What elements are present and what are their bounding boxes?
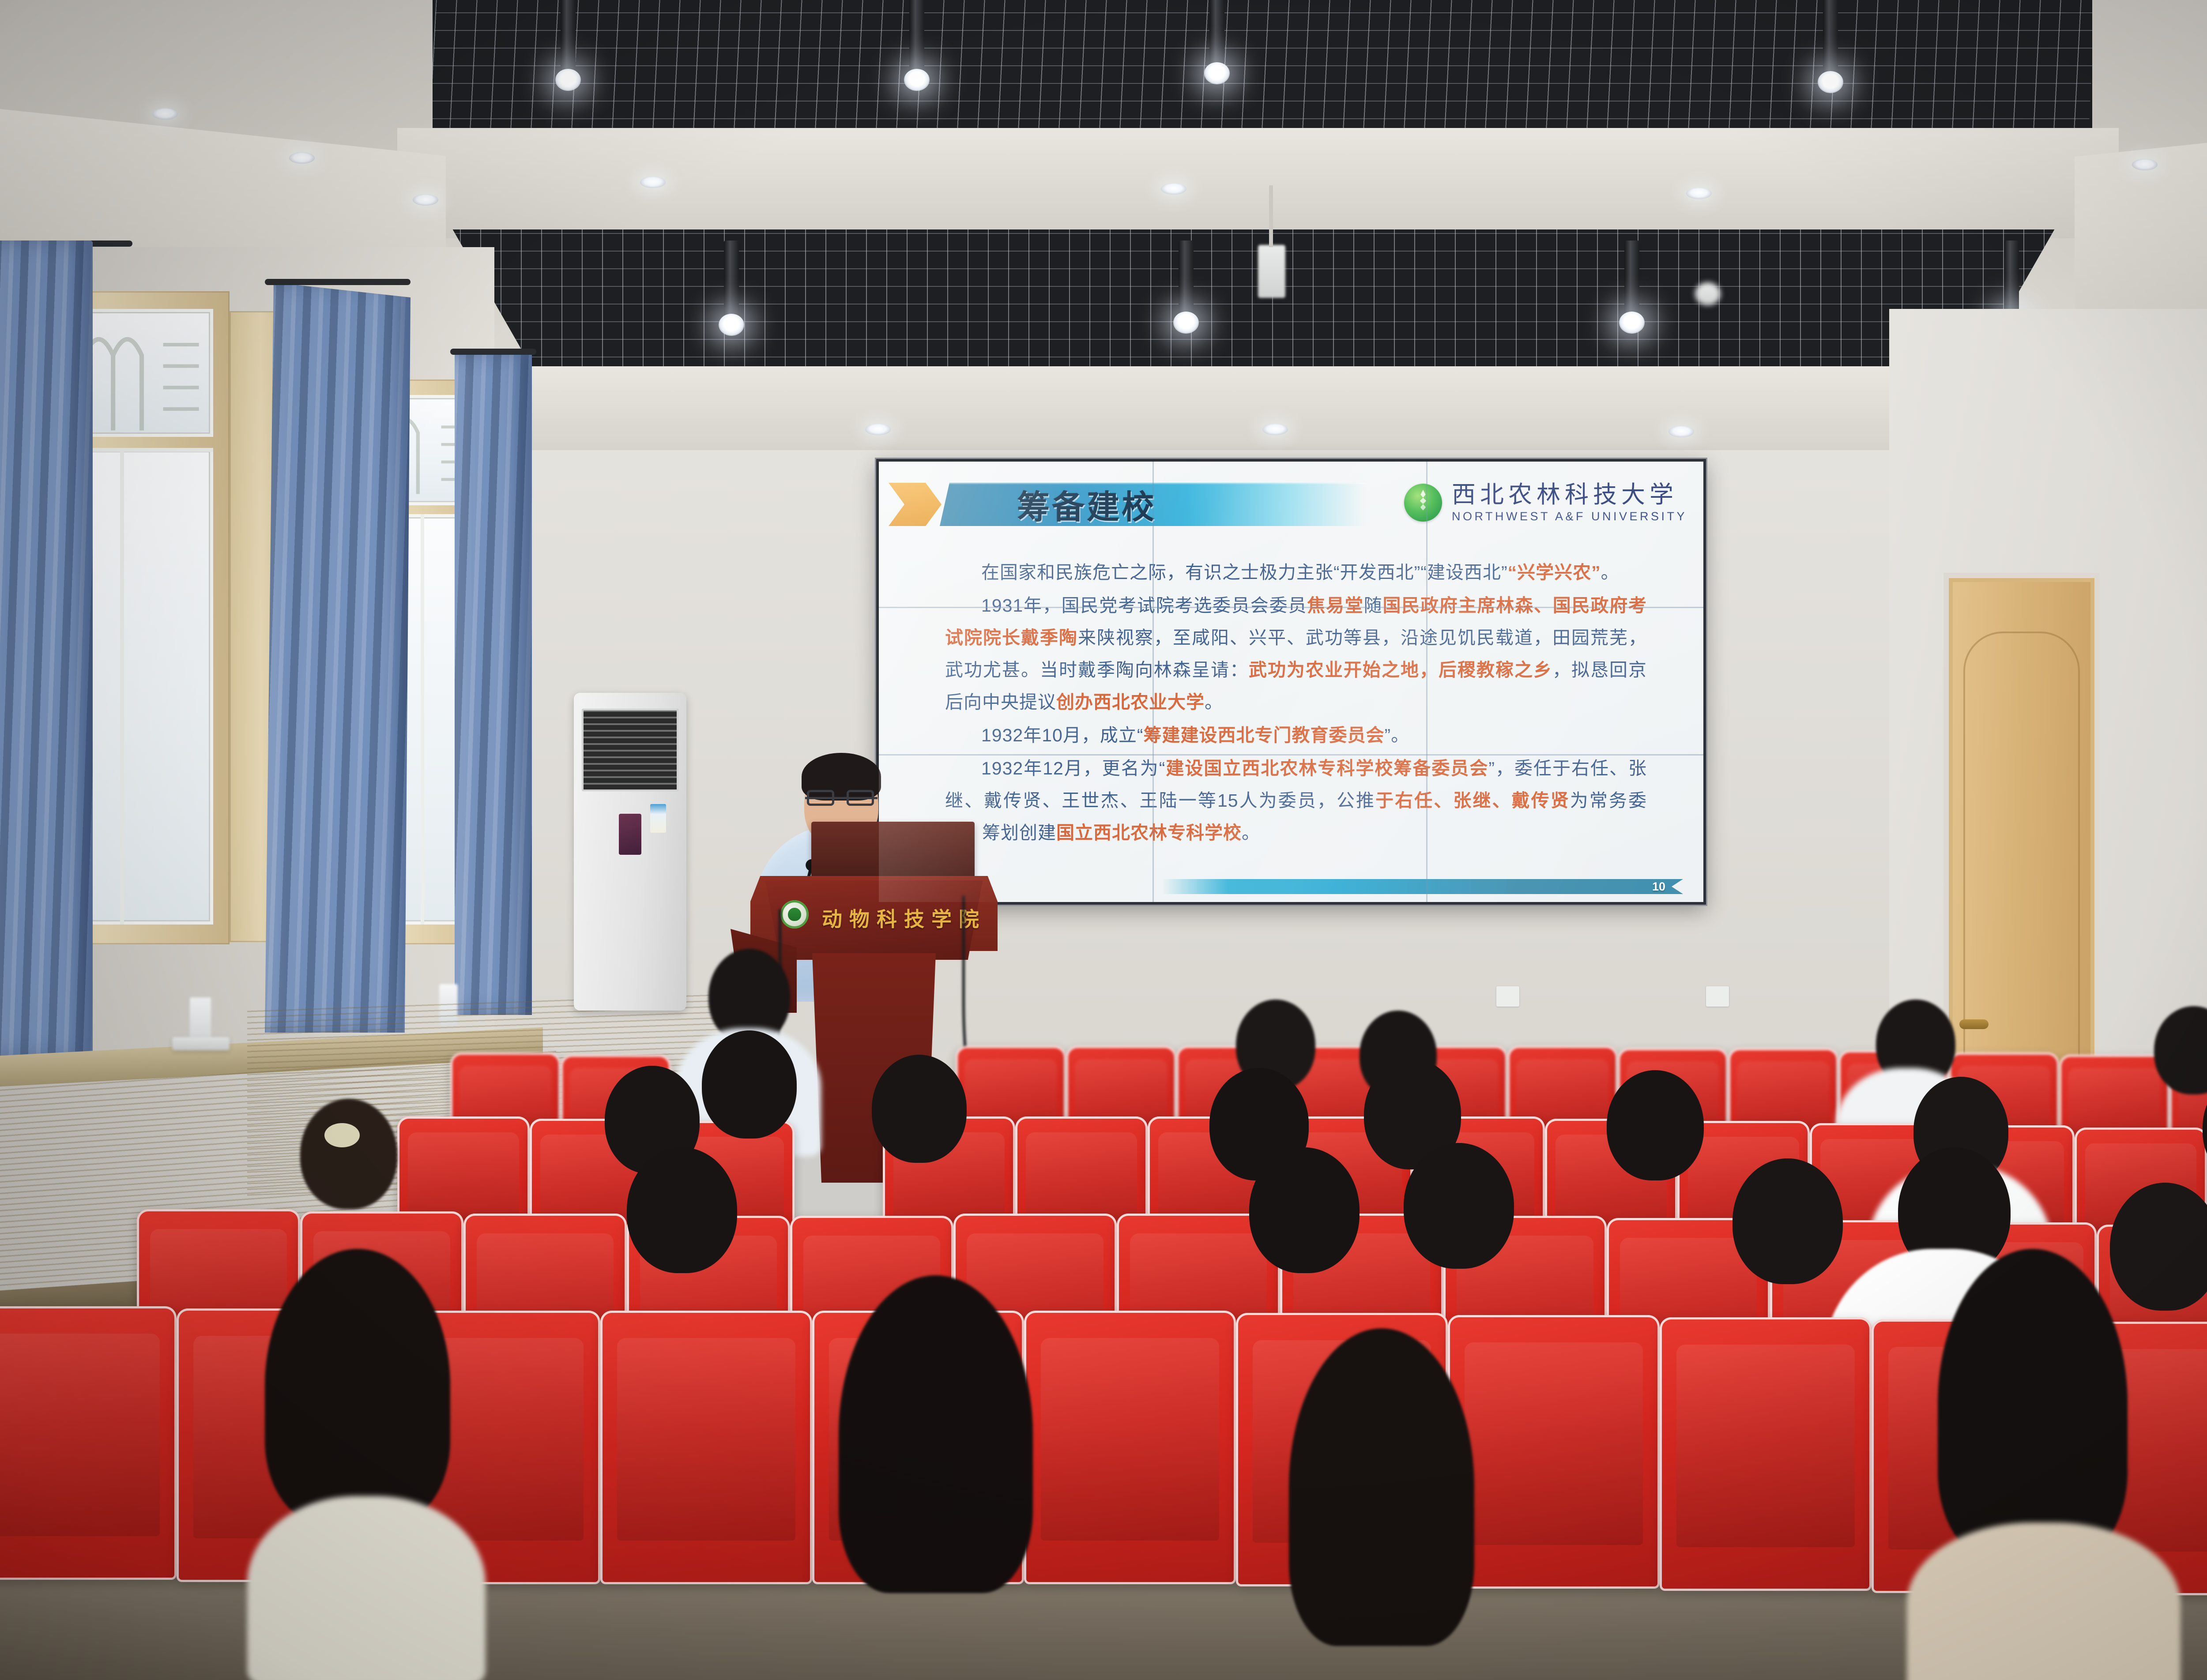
pendant-light (561, 0, 576, 79)
recessed-spotlight (289, 152, 315, 164)
ceiling-grille-upper (433, 0, 2092, 137)
slide-highlight-run: 筹建建设西北专门教育委员会 (1143, 725, 1384, 745)
led-video-wall[interactable]: 筹备建校 西北农林科技大学 NORTHWEST A&F UNIVERSITY 在… (876, 459, 1706, 905)
recessed-spotlight (865, 424, 891, 435)
slide-title: 筹备建校 (1017, 481, 1156, 528)
slide-text-run: 1932年12月，更名为“ (981, 758, 1165, 778)
hair-tie (324, 1123, 360, 1147)
pendant-light (909, 0, 924, 79)
slide-text-run: 1932年10月，成立“ (981, 725, 1143, 745)
recessed-spotlight (152, 108, 178, 120)
curtain-rod (265, 279, 411, 285)
slide-paragraph: 在国家和民族危亡之际，有识之士极力主张“开发西北”“建设西北”“兴学兴农”。 (945, 556, 1647, 589)
ceiling-speaker (1695, 282, 1721, 305)
pendant-light (724, 241, 739, 324)
recessed-spotlight (1262, 424, 1288, 435)
recessed-spotlight (1668, 426, 1694, 437)
air-vent-grille (582, 709, 678, 791)
slide-paragraph: 1931年，国民党考试院考选委员会委员焦易堂随国民政府主席林森、国民政府考试院院… (945, 590, 1647, 718)
air-conditioner-unit[interactable] (574, 693, 686, 1011)
audience-head (1249, 1147, 1360, 1273)
door-handle[interactable] (1959, 1019, 1989, 1029)
slide-text-run: 。 (1601, 562, 1619, 583)
chevron-icon (889, 483, 942, 526)
auditorium-seat[interactable] (1660, 1317, 1872, 1591)
wall-socket-plate[interactable] (1706, 986, 1729, 1007)
slide-highlight-run: 武功为农业开始之地，后稷教稼之乡 (1249, 660, 1552, 680)
recessed-spotlight (640, 177, 666, 188)
curtain-panel[interactable] (455, 353, 532, 1015)
slide-paragraph: 1932年10月，成立“筹建建设西北专门教育委员会”。 (945, 719, 1647, 752)
audience-head-foreground (265, 1249, 450, 1522)
recessed-spotlight (2132, 159, 2158, 170)
presentation-slide: 筹备建校 西北农林科技大学 NORTHWEST A&F UNIVERSITY 在… (879, 462, 1703, 902)
ceiling-grille-lower (419, 229, 2088, 375)
audience-head-foreground (1938, 1249, 2128, 1558)
audience-head (872, 1055, 967, 1163)
slide-highlight-run: 国立西北农林专科学校 (1056, 823, 1242, 843)
auditorium-seat[interactable] (1024, 1311, 1236, 1584)
slide-highlight-run: 焦易堂 (1307, 595, 1363, 616)
pendant-light (1179, 241, 1194, 322)
audience-head (1404, 1143, 1514, 1269)
wheat-emblem-icon (1404, 484, 1442, 522)
slide-highlight-run: 创办西北农业大学 (1056, 692, 1205, 712)
pendant-light (1823, 0, 1838, 82)
audience-head (300, 1099, 397, 1209)
slide-text-run: 随 (1364, 595, 1383, 616)
glasses-lens-right (847, 790, 874, 806)
slide-text-run: 1931年，国民党考试院考选委员会委员 (981, 595, 1307, 616)
slide-paragraph: 1932年12月，更名为“建设国立西北农林专科学校筹备委员会”，委任于右任、张继… (945, 752, 1647, 849)
audience-head-foreground (1289, 1328, 1474, 1646)
audience-head (702, 1030, 797, 1139)
curtain-panel[interactable] (265, 282, 411, 1033)
audience-head (627, 1147, 737, 1273)
auditorium-seat[interactable] (600, 1311, 812, 1584)
title-gradient-bar: 筹备建校 (940, 483, 1365, 526)
slide-page-number: 10 (1506, 879, 1683, 894)
slide-text-run: ”。 (1384, 725, 1409, 745)
slide-body-text: 在国家和民族危亡之际，有识之士极力主张“开发西北”“建设西北”“兴学兴农”。 1… (945, 556, 1647, 850)
university-logo: 西北农林科技大学 NORTHWEST A&F UNIVERSITY (1404, 483, 1687, 522)
ceiling-device-box (1258, 245, 1285, 298)
slide-text-run: 。 (1242, 823, 1260, 843)
pendant-light (2004, 241, 2019, 320)
curtain-rod (450, 349, 536, 355)
energy-label (650, 804, 666, 833)
audience-head (1607, 1070, 1704, 1180)
pendant-light (1209, 0, 1224, 73)
ac-display-panel[interactable] (619, 814, 641, 855)
logo-name-cn: 西北农林科技大学 (1452, 483, 1687, 507)
slide-text-run: 。 (1205, 692, 1223, 712)
remote-control[interactable] (172, 1037, 230, 1050)
slide-text-run: 在国家和民族危亡之际，有识之士极力主张“开发西北”“建设西北” (981, 562, 1508, 583)
projector-mount-rod (1269, 185, 1273, 247)
audience-torso-foreground (247, 1496, 486, 1680)
glasses-lens-left (807, 790, 834, 806)
recessed-spotlight (1686, 188, 1712, 199)
slide-highlight-run: “兴学兴农” (1508, 562, 1601, 583)
audience-torso-foreground (1907, 1522, 2181, 1680)
slide-highlight-run: 于右任、张继、戴传贤 (1375, 790, 1570, 811)
pendant-light (1624, 241, 1639, 322)
auditorium-seat[interactable] (0, 1306, 177, 1580)
audience-head-foreground (839, 1275, 1033, 1593)
podium-inscription: 动物科技学院 (822, 903, 986, 932)
recessed-spotlight (1161, 183, 1186, 195)
slide-title-bar: 筹备建校 (889, 483, 1365, 526)
slide-highlight-run: 建设国立西北农林专科学校筹备委员会 (1165, 758, 1488, 778)
podium-emblem-icon (780, 900, 809, 928)
auditorium-seat[interactable] (1448, 1315, 1660, 1589)
page-number-value: 10 (1652, 880, 1665, 894)
curtain-panel[interactable] (0, 241, 93, 1057)
recessed-spotlight (413, 194, 438, 206)
audience-head (1732, 1158, 1843, 1284)
lecture-hall-photo: 筹备建校 西北农林科技大学 NORTHWEST A&F UNIVERSITY 在… (0, 0, 2207, 1680)
logo-name-en: NORTHWEST A&F UNIVERSITY (1452, 511, 1687, 522)
wall-socket-plate[interactable] (1496, 986, 1519, 1007)
laptop-screen[interactable] (811, 822, 975, 879)
